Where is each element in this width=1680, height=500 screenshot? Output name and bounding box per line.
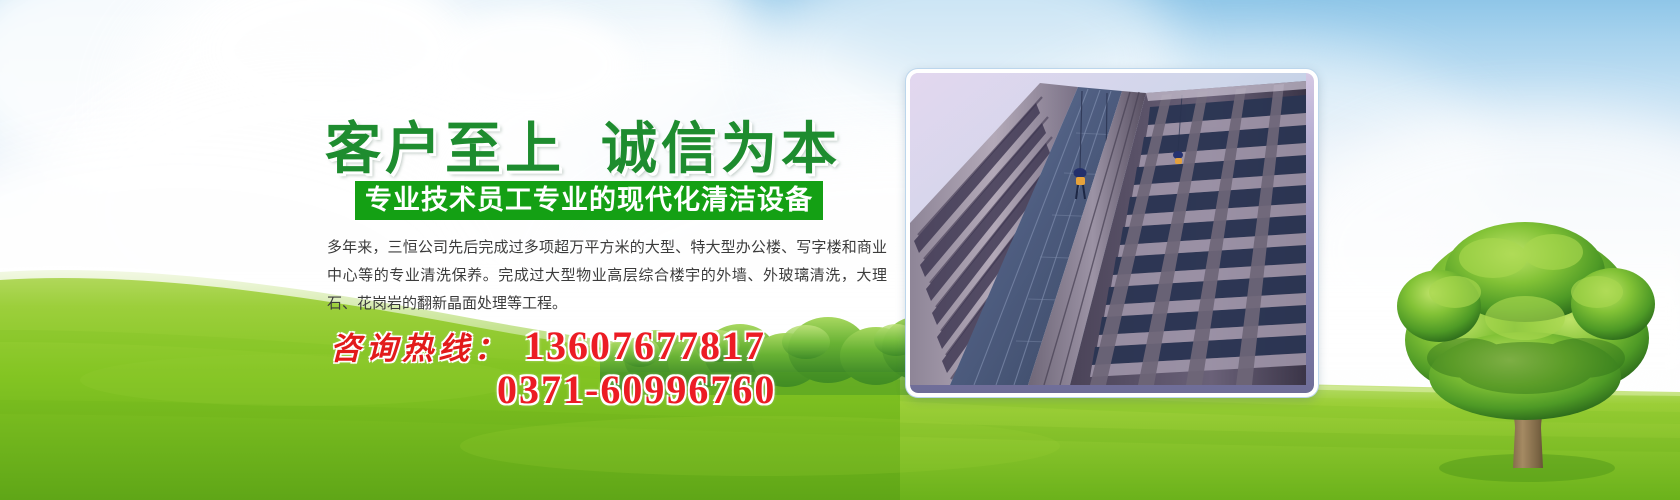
large-tree [1375,200,1675,500]
promo-banner: 客户至上 诚信为本 专业技术员工专业的现代化清洁设备 多年来，三恒公司先后完成过… [0,0,1680,500]
hotline-row: 咨询热线： 13607677817 [330,322,766,369]
description-paragraph: 多年来，三恒公司先后完成过多项超万平方米的大型、特大型办公楼、写字楼和商业中心等… [327,234,887,318]
hotline-landline-number[interactable]: 0371-60996760 [497,367,776,412]
hotline-row-secondary: 0371-60996760 [497,366,776,413]
hotline-label: 咨询热线： [330,331,510,366]
subtitle-bar: 专业技术员工专业的现代化清洁设备 [355,181,823,220]
building-photo [910,73,1314,393]
building-photo-card[interactable] [906,69,1318,397]
page-title: 客户至上 诚信为本 [325,104,841,185]
hotline-mobile-number[interactable]: 13607677817 [524,323,766,368]
description-text: 多年来，三恒公司先后完成过多项超万平方米的大型、特大型办公楼、写字楼和商业中心等… [327,234,887,318]
